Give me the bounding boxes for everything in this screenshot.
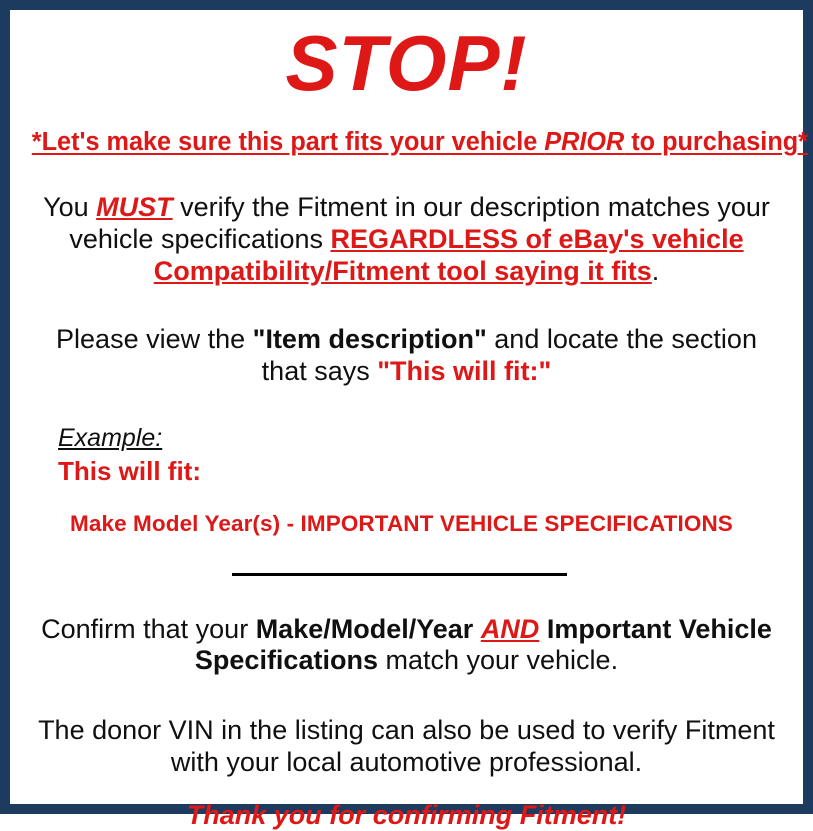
stop-headline: STOP!	[28, 10, 785, 102]
example-label-row: Example:	[58, 424, 785, 453]
item-description-paragraph: Please view the "Item description" and l…	[28, 288, 785, 388]
example-label: Example:	[58, 424, 162, 453]
itemdesc-emphasis-item-description: "Item description"	[253, 324, 487, 354]
must-verify-paragraph: You MUST verify the Fitment in our descr…	[28, 157, 785, 288]
example-block: Example: This will fit: Make Model Year(…	[28, 388, 785, 537]
confirm-emphasis-make-model-year: Make/Model/Year	[256, 614, 474, 644]
subtitle-tail-text: to purchasing*	[624, 128, 808, 156]
fitment-notice-card: STOP! *Let's make sure this part fits yo…	[0, 0, 813, 814]
divider-wrapper	[28, 537, 785, 576]
itemdesc-part1: Please view the	[56, 324, 253, 354]
section-divider	[232, 573, 567, 576]
confirm-part2	[473, 614, 481, 644]
fitment-subtitle: *Let's make sure this part fits your veh…	[32, 102, 781, 157]
confirm-part3	[539, 614, 547, 644]
example-fit-heading: This will fit:	[58, 453, 785, 487]
must-emphasis-must: MUST	[96, 192, 173, 222]
confirm-paragraph: Confirm that your Make/Model/Year AND Im…	[28, 584, 785, 678]
example-spec-line: Make Model Year(s) - IMPORTANT VEHICLE S…	[58, 487, 785, 537]
closing-thank-you: Thank you for confirming Fitment!	[28, 779, 785, 831]
must-part1: You	[43, 192, 96, 222]
confirm-emphasis-and: AND	[481, 614, 540, 644]
subtitle-emphasis-prior: PRIOR	[544, 128, 624, 156]
confirm-part4: match your vehicle.	[378, 645, 618, 675]
confirm-part1: Confirm that your	[41, 614, 256, 644]
itemdesc-emphasis-this-will-fit: "This will fit:"	[377, 356, 551, 386]
donor-vin-paragraph: The donor VIN in the listing can also be…	[28, 677, 785, 779]
subtitle-lead-text: *Let's make sure this part fits your veh…	[32, 128, 544, 156]
must-part3: .	[652, 256, 660, 286]
